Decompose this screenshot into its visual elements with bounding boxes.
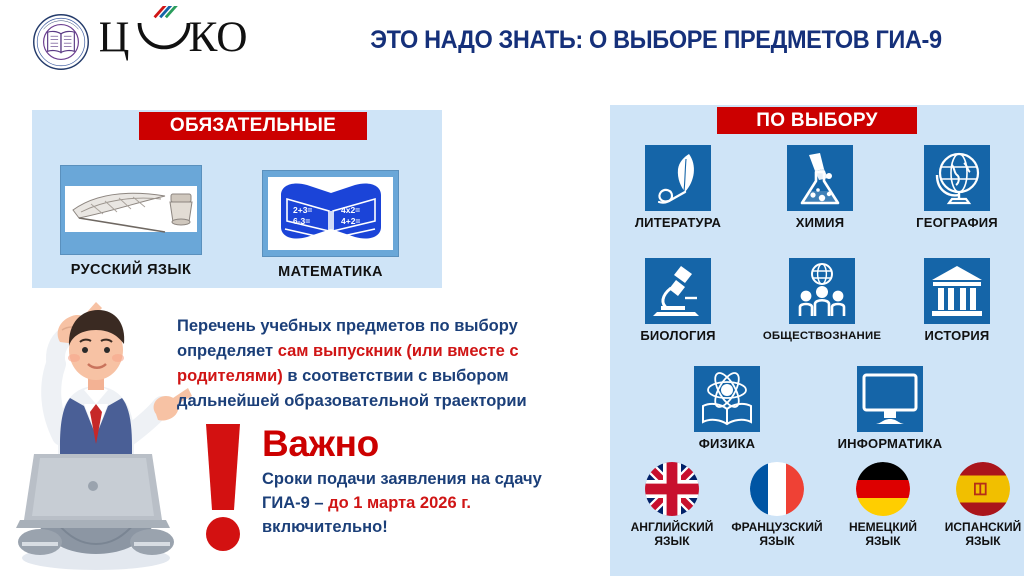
important-deadline: до 1 марта 2026 г.: [328, 494, 471, 512]
open-math-book-icon: 2+3= 6-3= 4x2= 4+2=: [262, 170, 399, 257]
elective-language-german: НЕМЕЦКИЙ ЯЗЫК: [828, 462, 938, 548]
elective-language-french: ФРАНЦУЗСКИЙ ЯЗЫК: [717, 462, 837, 548]
student-with-laptop-illustration: [0, 286, 192, 576]
mandatory-subject-label: РУССКИЙ ЯЗЫК: [60, 262, 202, 278]
important-line-2-before: ГИА-9 –: [262, 494, 328, 512]
elective-subject-label: БИОЛОГИЯ: [623, 329, 733, 343]
elective-subject-informatics: ИНФОРМАТИКА: [830, 366, 950, 451]
elective-subject-history: ИСТОРИЯ: [902, 258, 1012, 343]
elective-note-paragraph: Перечень учебных предметов по выбору опр…: [177, 314, 543, 414]
infographic-slide: Ц КО ЭТО НАДО ЗНАТЬ: О ВЫБОРЕ ПРЕДМЕТОВ …: [0, 0, 1024, 576]
organization-logo: Ц КО: [28, 8, 258, 70]
language-label-line-1: ФРАНЦУЗСКИЙ: [717, 521, 837, 535]
svg-text:6-3=: 6-3=: [293, 216, 310, 226]
language-label-line-2: ЯЗЫК: [717, 535, 837, 549]
elective-language-spanish: ИСПАНСКИЙ ЯЗЫК: [928, 462, 1024, 548]
important-body: Сроки подачи заявления на сдачу ГИА-9 – …: [262, 467, 562, 539]
language-label-line-2: ЯЗЫК: [828, 535, 938, 549]
united-kingdom-flag-icon: [645, 462, 699, 516]
atom-over-book-icon: [694, 366, 760, 432]
elective-subject-label: ОБЩЕСТВОЗНАНИЕ: [757, 329, 887, 343]
language-label-line-1: ИСПАНСКИЙ: [928, 521, 1024, 535]
mandatory-subject-math: 2+3= 6-3= 4x2= 4+2= МАТЕМАТИКА: [262, 170, 399, 280]
computer-monitor-icon: [857, 366, 923, 432]
quill-pen-icon: [645, 145, 711, 211]
elective-subject-label: ЛИТЕРАТУРА: [623, 216, 733, 230]
elective-subject-chemistry: ХИМИЯ: [765, 145, 875, 230]
elective-subject-biology: БИОЛОГИЯ: [623, 258, 733, 343]
classical-temple-icon: [924, 258, 990, 324]
microscope-icon: [645, 258, 711, 324]
svg-text:Ц: Ц: [100, 13, 129, 61]
elective-subject-label: ИНФОРМАТИКА: [830, 437, 950, 451]
globe-icon: [924, 145, 990, 211]
france-flag-icon: [750, 462, 804, 516]
elective-subject-label: ФИЗИКА: [672, 437, 782, 451]
language-label-line-1: НЕМЕЦКИЙ: [828, 521, 938, 535]
flask-and-test-tube-icon: [787, 145, 853, 211]
elective-subject-literature: ЛИТЕРАТУРА: [623, 145, 733, 230]
important-line-3: включительно!: [262, 518, 388, 536]
language-label-line-1: АНГЛИЙСКИЙ: [617, 521, 727, 535]
page-title: ЭТО НАДО ЗНАТЬ: О ВЫБОРЕ ПРЕДМЕТОВ ГИА-9: [321, 22, 990, 58]
elective-subject-social-studies: ОБЩЕСТВОЗНАНИЕ: [757, 258, 887, 343]
svg-text:4+2=: 4+2=: [341, 216, 360, 226]
mandatory-banner: ОБЯЗАТЕЛЬНЫЕ: [139, 112, 367, 140]
language-label-line-2: ЯЗЫК: [617, 535, 727, 549]
language-label-line-2: ЯЗЫК: [928, 535, 1024, 549]
germany-flag-icon: [856, 462, 910, 516]
elective-subject-label: ГЕОГРАФИЯ: [902, 216, 1012, 230]
svg-text:КО: КО: [188, 13, 247, 61]
exclamation-mark-icon: [200, 424, 246, 552]
people-and-globe-icon: [789, 258, 855, 324]
important-line-1: Сроки подачи заявления на сдачу: [262, 470, 542, 488]
open-book-emblem-icon: [32, 13, 90, 71]
mandatory-subject-label: МАТЕМАТИКА: [262, 264, 399, 280]
logo-wordmark: Ц КО: [100, 6, 260, 70]
header: Ц КО ЭТО НАДО ЗНАТЬ: О ВЫБОРЕ ПРЕДМЕТОВ …: [0, 0, 1024, 80]
elective-subject-geography: ГЕОГРАФИЯ: [902, 145, 1012, 230]
elective-banner: ПО ВЫБОРУ: [717, 107, 917, 134]
elective-subject-physics: ФИЗИКА: [672, 366, 782, 451]
important-heading: Важно: [262, 424, 379, 464]
spain-flag-icon: [956, 462, 1010, 516]
svg-text:4x2=: 4x2=: [341, 205, 360, 215]
mandatory-subject-russian: РУССКИЙ ЯЗЫК: [60, 165, 202, 278]
quill-and-inkwell-icon: [60, 165, 202, 255]
elective-subject-label: ИСТОРИЯ: [902, 329, 1012, 343]
elective-subject-label: ХИМИЯ: [765, 216, 875, 230]
elective-language-english: АНГЛИЙСКИЙ ЯЗЫК: [617, 462, 727, 548]
svg-text:2+3=: 2+3=: [293, 205, 312, 215]
